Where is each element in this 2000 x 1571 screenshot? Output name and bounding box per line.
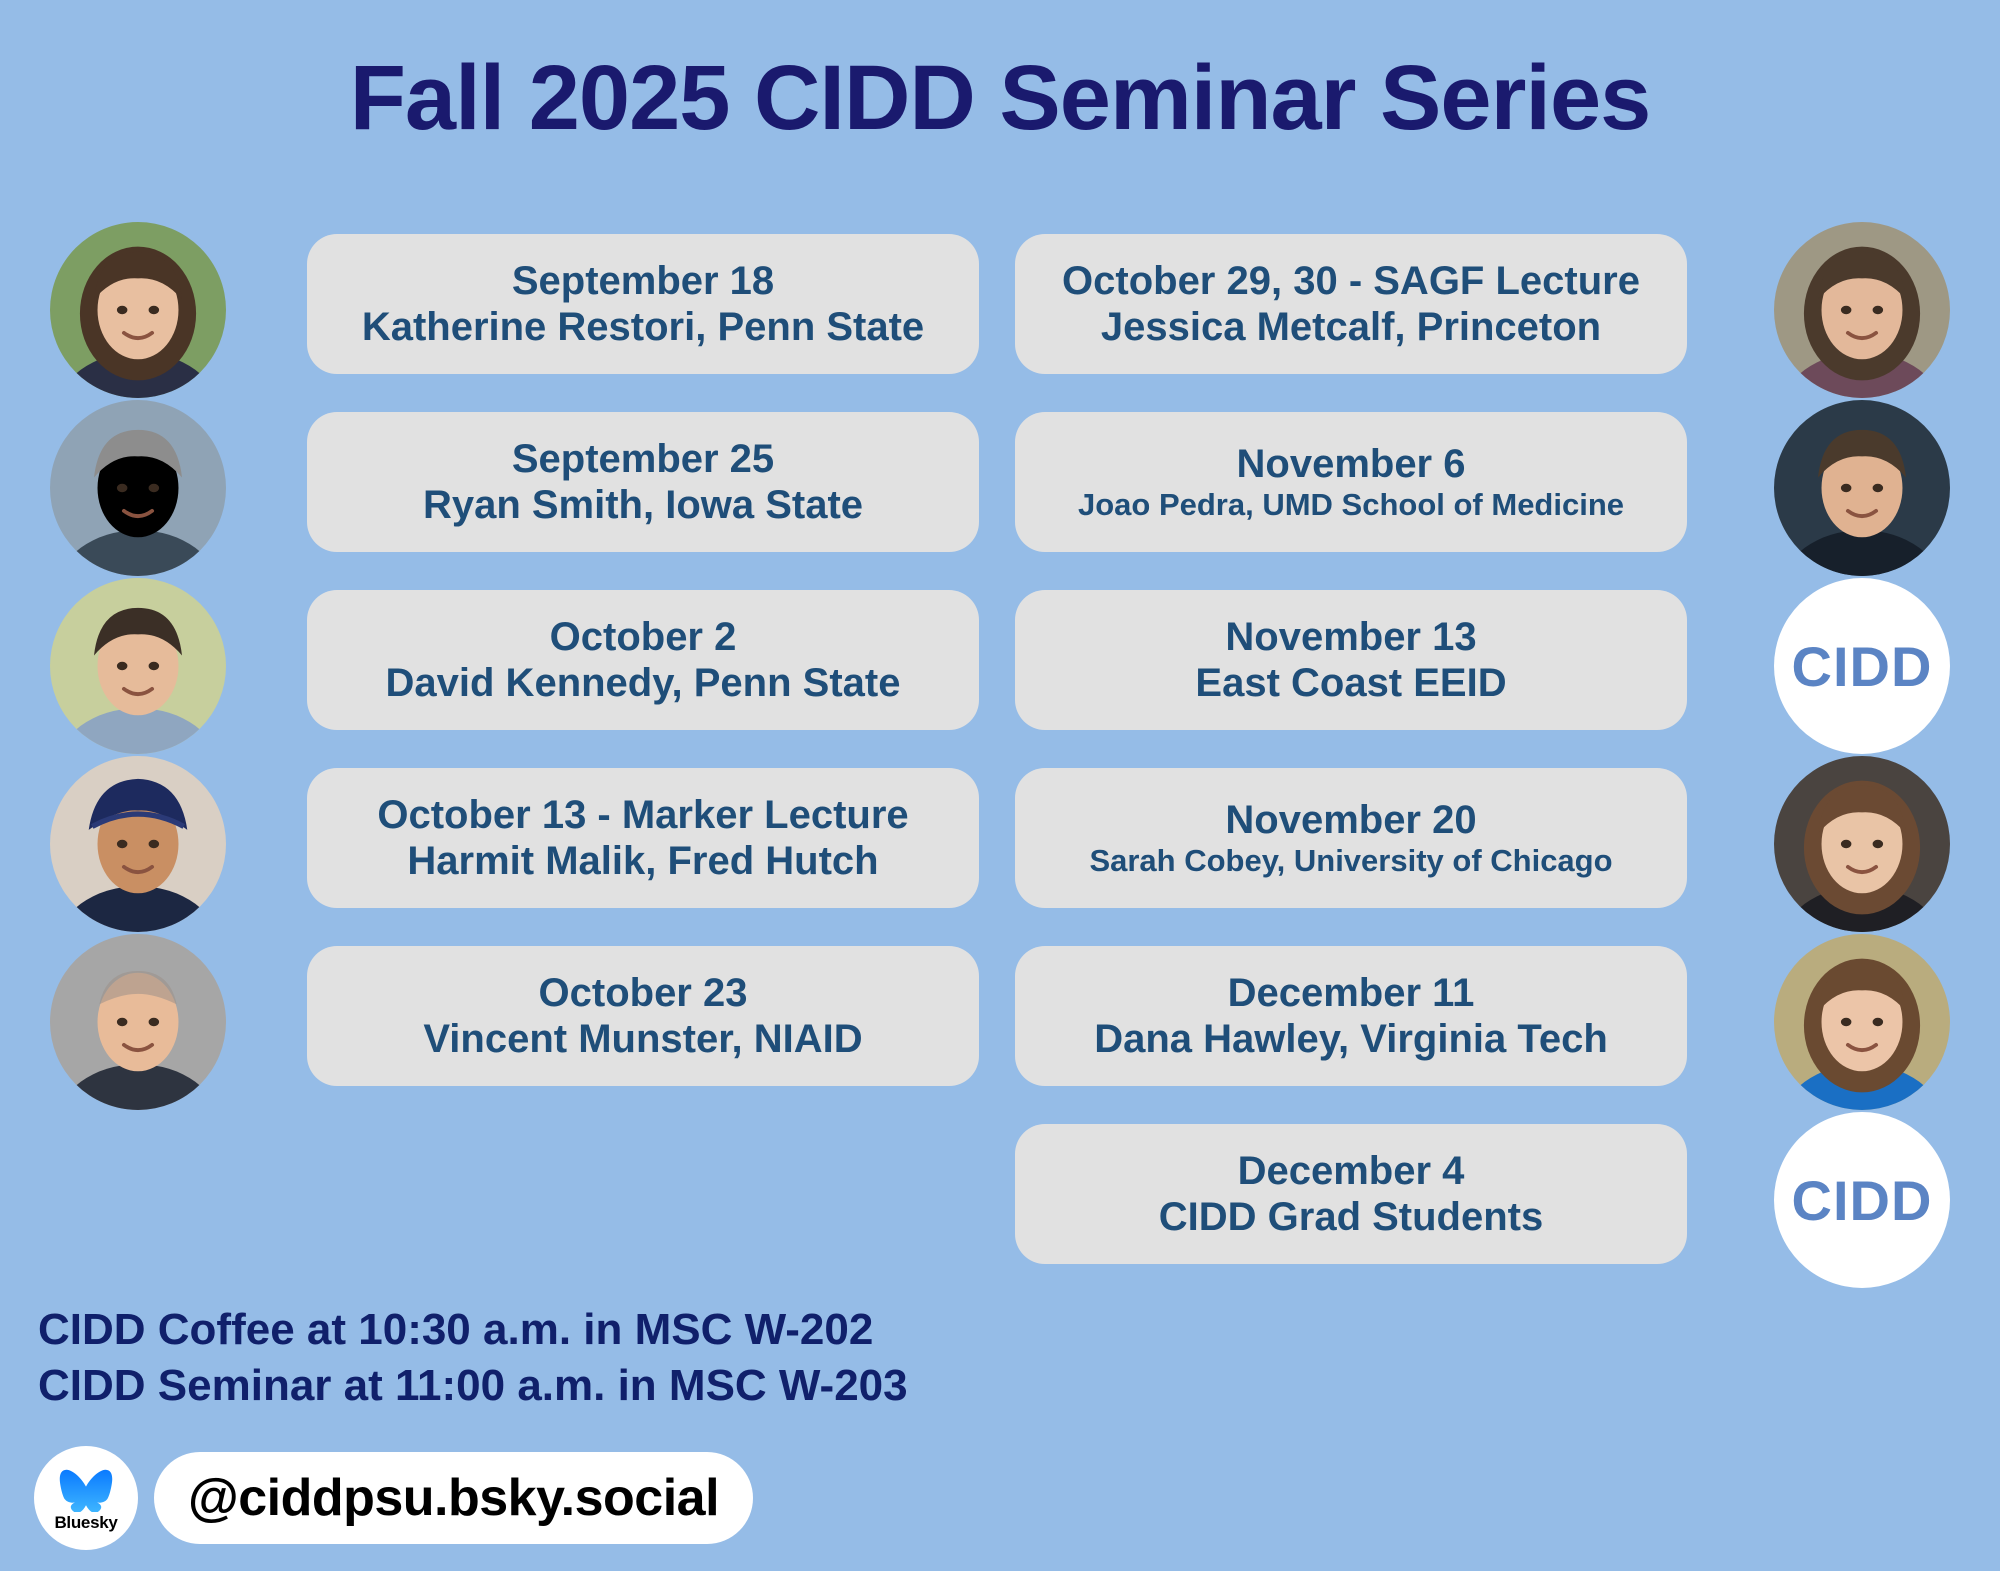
seminar-speaker: Joao Pedra, UMD School of Medicine	[1078, 487, 1624, 523]
seminar-card: December 11Dana Hawley, Virginia Tech	[1015, 946, 1687, 1086]
bluesky-handle-pill[interactable]: @ciddpsu.bsky.social	[154, 1452, 753, 1544]
seminar-card: October 13 - Marker LectureHarmit Malik,…	[307, 768, 979, 908]
portrait-dana-hawley	[1774, 934, 1950, 1110]
seminar-date: September 18	[512, 258, 774, 304]
cidd-logo-circle: CIDD	[1774, 1112, 1950, 1288]
seminar-row: October 13 - Marker LectureHarmit Malik,…	[0, 756, 2000, 934]
bluesky-handle-text: @ciddpsu.bsky.social	[188, 1468, 719, 1528]
seminar-speaker: CIDD Grad Students	[1159, 1194, 1543, 1240]
cidd-logo-text: CIDD	[1792, 634, 1933, 699]
bluesky-handle-row[interactable]: Bluesky @ciddpsu.bsky.social	[34, 1442, 753, 1554]
seminar-speaker: Jessica Metcalf, Princeton	[1101, 304, 1601, 350]
portrait-katherine-restori	[50, 222, 226, 398]
seminar-speaker: Harmit Malik, Fred Hutch	[407, 838, 878, 884]
seminar-speaker: David Kennedy, Penn State	[386, 660, 901, 706]
seminar-card: December 4CIDD Grad Students	[1015, 1124, 1687, 1264]
portrait-harmit-malik	[50, 756, 226, 932]
portrait-vincent-munster	[50, 934, 226, 1110]
footer-logistics: CIDD Coffee at 10:30 a.m. in MSC W-202 C…	[38, 1302, 908, 1415]
seminar-card: September 25Ryan Smith, Iowa State	[307, 412, 979, 552]
seminar-row: September 25Ryan Smith, Iowa StateNovemb…	[0, 400, 2000, 578]
portrait-sarah-cobey	[1774, 756, 1950, 932]
seminar-date: November 6	[1237, 441, 1466, 487]
seminar-card: November 20Sarah Cobey, University of Ch…	[1015, 768, 1687, 908]
seminar-speaker: Sarah Cobey, University of Chicago	[1089, 843, 1612, 879]
seminar-row: October 2David Kennedy, Penn StateNovemb…	[0, 578, 2000, 756]
seminar-row: September 18Katherine Restori, Penn Stat…	[0, 222, 2000, 400]
seminar-speaker: Ryan Smith, Iowa State	[423, 482, 863, 528]
seminar-date: September 25	[512, 436, 774, 482]
seminar-date: December 11	[1228, 970, 1475, 1016]
seminar-speaker: East Coast EEID	[1195, 660, 1506, 706]
portrait-ryan-smith	[50, 400, 226, 576]
cidd-logo-text: CIDD	[1792, 1168, 1933, 1233]
seminar-speaker: Katherine Restori, Penn State	[362, 304, 924, 350]
bluesky-logo-badge: Bluesky	[34, 1446, 138, 1550]
seminar-date: October 2	[550, 614, 737, 660]
seminar-card: November 13East Coast EEID	[1015, 590, 1687, 730]
butterfly-icon	[58, 1468, 114, 1512]
footer-coffee-line: CIDD Coffee at 10:30 a.m. in MSC W-202	[38, 1302, 908, 1358]
seminar-row: October 23Vincent Munster, NIAIDDecember…	[0, 934, 2000, 1112]
footer-seminar-line: CIDD Seminar at 11:00 a.m. in MSC W-203	[38, 1358, 908, 1414]
seminar-date: October 23	[539, 970, 748, 1016]
seminar-date: November 20	[1225, 797, 1476, 843]
page-title: Fall 2025 CIDD Seminar Series	[0, 48, 2000, 149]
seminar-schedule-board: September 18Katherine Restori, Penn Stat…	[0, 222, 2000, 1332]
bluesky-wordmark: Bluesky	[54, 1513, 117, 1533]
seminar-card: September 18Katherine Restori, Penn Stat…	[307, 234, 979, 374]
seminar-card: November 6Joao Pedra, UMD School of Medi…	[1015, 412, 1687, 552]
seminar-speaker: Dana Hawley, Virginia Tech	[1094, 1016, 1608, 1062]
seminar-card: October 29, 30 - SAGF LectureJessica Met…	[1015, 234, 1687, 374]
cidd-logo-circle: CIDD	[1774, 578, 1950, 754]
seminar-speaker: Vincent Munster, NIAID	[423, 1016, 862, 1062]
portrait-david-kennedy	[50, 578, 226, 754]
seminar-card: October 23Vincent Munster, NIAID	[307, 946, 979, 1086]
seminar-card: October 2David Kennedy, Penn State	[307, 590, 979, 730]
portrait-jessica-metcalf	[1774, 222, 1950, 398]
seminar-date: November 13	[1225, 614, 1476, 660]
seminar-row: December 4CIDD Grad StudentsCIDD	[0, 1112, 2000, 1290]
seminar-date: December 4	[1238, 1148, 1465, 1194]
portrait-joao-pedra	[1774, 400, 1950, 576]
seminar-date: October 29, 30 - SAGF Lecture	[1062, 258, 1640, 304]
seminar-date: October 13 - Marker Lecture	[377, 792, 908, 838]
